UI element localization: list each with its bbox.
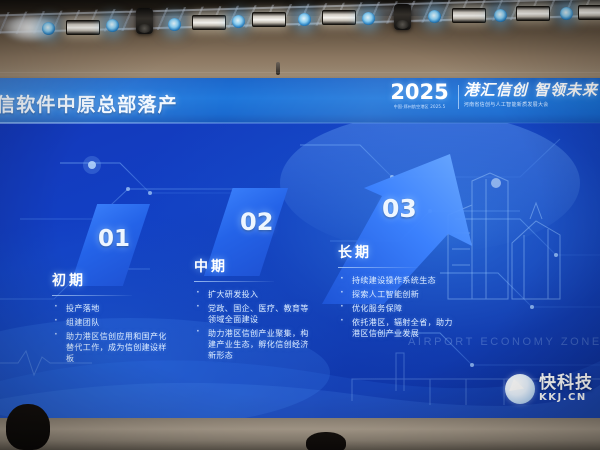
phase-rule-01 [52,295,132,296]
wall-seam [0,72,600,73]
moving-head-light [394,4,411,30]
stage-front-wall [0,418,600,450]
phase-title-02: 中期 [194,256,316,276]
stage-spotlight [494,9,507,22]
logo-divider [458,85,459,109]
stage-wash-light [578,5,600,20]
stage-spotlight [560,7,573,20]
logo-slogan: 港汇信创 智领未来 [464,82,598,99]
watermark-cn: 快科技 [539,375,593,392]
stage-spotlight [298,13,311,26]
phase-bullets-03: 持续建设操作系统生态 探索人工智能创新 优化服务保障 依托港区，辐射全省，助力港… [338,275,460,339]
stage-wash-light [452,8,486,23]
watermark: 快科技 KKJ.CN [505,374,593,404]
watermark-en: KKJ.CN [539,392,593,403]
logo-year-subtitle: 中国·郑州航空港区 2025.5 [390,104,448,110]
stage-wash-light [252,12,286,27]
stage-wash-light [192,15,226,30]
venue-ceiling [0,0,600,86]
phase-bullets-01: 投产落地 组建团队 助力港区信创应用和国产化替代工作，成为信创建设样板 [52,303,170,364]
phase-number-03: 03 [382,194,417,223]
list-item: 探索人工智能创新 [338,289,460,300]
list-item: 扩大研发投入 [194,289,316,300]
stage-spotlight [42,22,55,35]
stage-wash-light [322,10,356,25]
audience-head [6,404,50,450]
band-edge-line [0,122,600,124]
watermark-text: 快科技 KKJ.CN [539,375,593,403]
stage-spotlight [428,10,441,23]
phase-rule-02 [194,281,274,282]
led-screen: AIRPORT ECONOMY ZONE [0,78,600,418]
phase-title-01: 初期 [52,270,170,290]
logo-year-block: 2025 中国·郑州航空港区 2025.5 [390,82,452,110]
list-item: 组建团队 [52,317,170,328]
list-item: 优化服务保障 [338,303,460,314]
stage-wash-light [516,6,550,21]
phase-panel-01: 初期 投产落地 组建团队 助力港区信创应用和国产化替代工作，成为信创建设样板 [52,270,170,367]
stage-photo: AIRPORT ECONOMY ZONE [0,0,600,450]
stage-spotlight [168,18,181,31]
moving-head-light [136,8,153,34]
phase-panel-02: 中期 扩大研发投入 党政、国企、医疗、教育等领域全面建设 助力港区信创产业聚集，… [194,256,316,364]
list-item: 依托港区，辐射全省，助力港区信创产业发展 [338,317,460,339]
stage-spotlight [232,15,245,28]
stage-wash-light [66,20,100,35]
phase-bullets-02: 扩大研发投入 党政、国企、医疗、教育等领域全面建设 助力港区信创产业聚集，构建产… [194,289,316,361]
hanging-microphone [276,62,280,75]
audience-head [306,432,346,450]
kkj-logo-icon [505,374,535,404]
logo-year: 2025 [390,82,448,103]
logo-main-block: 港汇信创 智领未来 河南省信创与人工智能新质发展大会 [464,82,598,108]
phase-rule-03 [338,267,418,268]
phase-panel-03: 长期 持续建设操作系统生态 探索人工智能创新 优化服务保障 依托港区，辐射全省，… [338,242,460,342]
list-item: 助力港区信创应用和国产化替代工作，成为信创建设样板 [52,331,170,364]
list-item: 助力港区信创产业聚集，构建产业生态，孵化信创经济新形态 [194,328,316,361]
list-item: 投产落地 [52,303,170,314]
stage-spotlight [362,12,375,25]
phase-number-02: 02 [240,208,273,236]
phase-number-01: 01 [98,226,130,252]
list-item: 党政、国企、医疗、教育等领域全面建设 [194,303,316,325]
logo-conference-name: 河南省信创与人工智能新质发展大会 [464,101,598,108]
conference-logo: 2025 中国·郑州航空港区 2025.5 港汇信创 智领未来 河南省信创与人工… [390,82,598,110]
stage-spotlight [106,19,119,32]
phase-title-03: 长期 [338,242,460,262]
page-title: 信软件中原总部落产 [0,90,178,117]
list-item: 持续建设操作系统生态 [338,275,460,286]
